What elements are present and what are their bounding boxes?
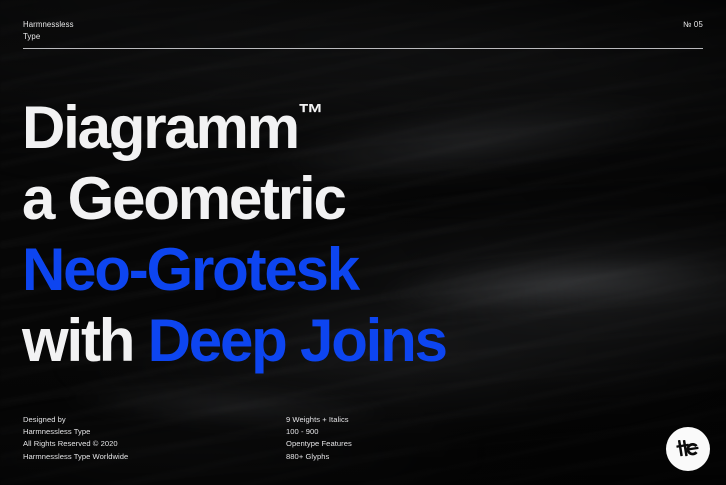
headline-block: Diagramm™ a Geometric Neo-Grotesk with D… [22,78,446,376]
poster-header: Harmnessless Type № 05 [23,19,703,42]
headline-line-3: Neo-Grotesk [22,234,446,305]
foundry-brand-name: Harmnessless Type [23,19,74,42]
trademark-symbol: ™ [298,98,324,128]
headline-line-4: with Deep Joins [22,305,446,376]
foundry-logo-badge [666,427,710,471]
specs-column: 9 Weights + Italics 100 - 900 Opentype F… [286,414,586,463]
headline-line-2: a Geometric [22,163,446,234]
issue-number: № 05 [683,19,703,29]
type-specimen-poster: Harmnessless Type № 05 Diagramm™ a Geome… [0,0,726,485]
headline-line-1-text: Diagramm [22,94,298,161]
headline-line-1: Diagramm™ [22,78,446,163]
credits-column: Designed by Harmnessless Type All Rights… [23,414,286,463]
poster-footer: Designed by Harmnessless Type All Rights… [23,414,708,463]
harmnessless-type-monogram-icon [675,436,701,462]
headline-line-4-white-part: with [22,307,148,374]
headline-line-4-accent-part: Deep Joins [148,307,446,374]
header-divider [23,48,703,49]
